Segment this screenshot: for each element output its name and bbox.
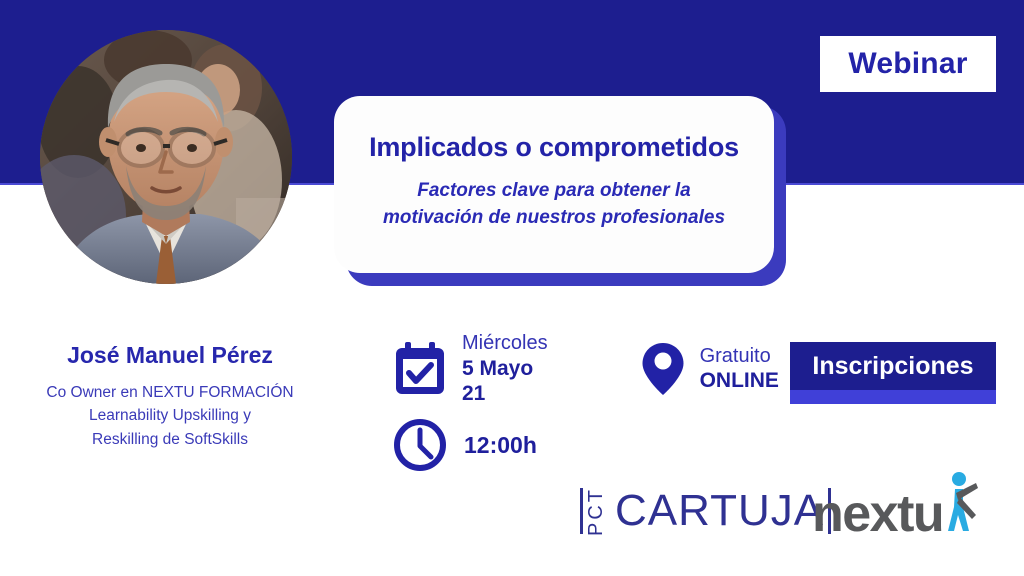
- cartuja-pct-label: PCT: [586, 487, 606, 536]
- speaker-info: José Manuel Pérez Co Owner en NEXTU FORM…: [10, 342, 330, 451]
- card-subtitle-line2: motivación de nuestros profesionales: [383, 205, 725, 232]
- date-value: 5 Mayo 21: [462, 356, 548, 407]
- card-title: Implicados o comprometidos: [369, 131, 739, 163]
- nextu-figure-icon: [945, 471, 979, 538]
- inscripciones-button-label: Inscripciones: [812, 352, 973, 381]
- webinar-badge-label: Webinar: [848, 47, 967, 81]
- speaker-photo: [40, 30, 292, 284]
- time-value: 12:00h: [464, 432, 537, 459]
- nextu-logo: nextu: [812, 480, 979, 540]
- speaker-name: José Manuel Pérez: [10, 342, 330, 369]
- speaker-portrait-image: [40, 30, 292, 284]
- location-text: Gratuito ONLINE: [700, 344, 779, 394]
- detail-item-location: Gratuito ONLINE: [640, 340, 779, 398]
- title-card: Implicados o comprometidos Factores clav…: [334, 96, 774, 273]
- detail-item-time: 12:00h: [392, 417, 537, 473]
- cartuja-wordmark: CARTUJA: [615, 489, 824, 533]
- detail-row-time: 12:00h: [392, 414, 772, 476]
- detail-item-date: Miércoles 5 Mayo 21: [392, 331, 548, 407]
- card-subtitle-line1: Factores clave para obtener la: [383, 178, 725, 205]
- speaker-role-line-1: Co Owner en NEXTU FORMACIÓN: [10, 381, 330, 404]
- pct-cartuja-logo: PCT CARTUJA: [580, 483, 831, 539]
- location-price: Gratuito: [700, 344, 779, 368]
- date-weekday: Miércoles: [462, 331, 548, 355]
- card-subtitle: Factores clave para obtener la motivació…: [383, 178, 725, 232]
- speaker-role-line-3: Reskilling de SoftSkills: [10, 428, 330, 451]
- inscripciones-button[interactable]: Inscripciones: [790, 342, 996, 390]
- cartuja-left-bar: [580, 488, 583, 534]
- calendar-check-icon: [392, 340, 448, 398]
- date-text: Miércoles 5 Mayo 21: [462, 331, 548, 407]
- detail-row-primary: Miércoles 5 Mayo 21 Gratuito ONLINE: [392, 330, 772, 408]
- webinar-poster: Webinar: [0, 0, 1024, 576]
- nextu-wordmark: nextu: [812, 488, 943, 540]
- location-pin-icon: [640, 340, 686, 398]
- location-mode: ONLINE: [700, 368, 779, 394]
- clock-icon: [392, 417, 448, 473]
- webinar-badge: Webinar: [820, 36, 996, 92]
- event-details: Miércoles 5 Mayo 21 Gratuito ONLINE: [392, 330, 772, 476]
- speaker-role-line-2: Learnability Upskilling y: [10, 404, 330, 427]
